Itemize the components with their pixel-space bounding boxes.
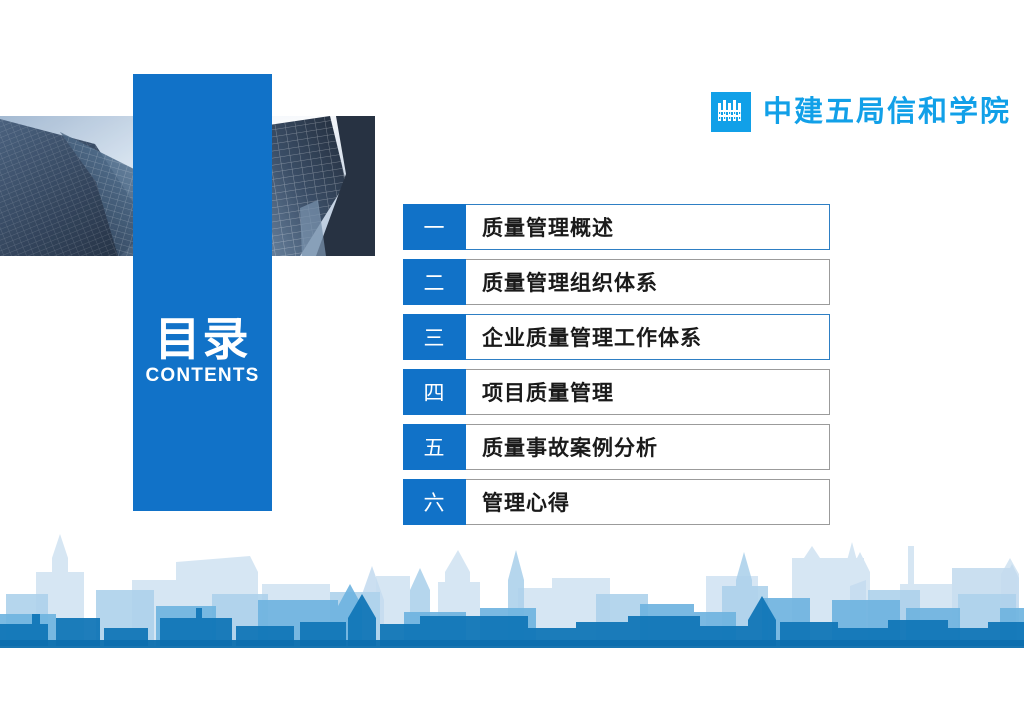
toc-number: 三 xyxy=(403,314,466,360)
toc-row[interactable]: 三 企业质量管理工作体系 xyxy=(403,314,830,360)
slide-canvas: 中建五局信和学院 xyxy=(0,0,1024,724)
toc-label-box[interactable]: 质量管理组织体系 xyxy=(465,259,830,305)
cscec-building-logo-icon xyxy=(711,92,751,132)
toc-row[interactable]: 一 质量管理概述 xyxy=(403,204,830,250)
toc-label: 管理心得 xyxy=(465,487,570,517)
brand-name: 中建五局信和学院 xyxy=(763,98,1011,127)
toc-label: 企业质量管理工作体系 xyxy=(465,322,702,352)
toc-label-box[interactable]: 质量管理概述 xyxy=(465,204,830,250)
toc-label-box[interactable]: 企业质量管理工作体系 xyxy=(465,314,830,360)
toc-label: 质量管理组织体系 xyxy=(465,267,658,297)
toc-label: 项目质量管理 xyxy=(465,377,614,407)
toc-label-box[interactable]: 管理心得 xyxy=(465,479,830,525)
toc-list: 一 质量管理概述 二 质量管理组织体系 三 企业质量管理工作体系 四 项目质量管… xyxy=(403,204,830,525)
contents-title-en: CONTENTS xyxy=(133,366,272,385)
toc-row[interactable]: 六 管理心得 xyxy=(403,479,830,525)
city-skyline-silhouette xyxy=(0,528,1024,648)
toc-number: 五 xyxy=(403,424,466,470)
toc-number: 六 xyxy=(403,479,466,525)
contents-title-cn: 目录 xyxy=(133,316,272,362)
brand-header: 中建五局信和学院 xyxy=(711,92,1011,132)
toc-number: 四 xyxy=(403,369,466,415)
toc-label: 质量管理概述 xyxy=(465,212,614,242)
toc-row[interactable]: 二 质量管理组织体系 xyxy=(403,259,830,305)
toc-number: 一 xyxy=(403,204,466,250)
toc-number: 二 xyxy=(403,259,466,305)
toc-label-box[interactable]: 质量事故案例分析 xyxy=(465,424,830,470)
contents-title-group: 目录 CONTENTS xyxy=(133,316,272,385)
toc-label: 质量事故案例分析 xyxy=(465,432,658,462)
toc-row[interactable]: 四 项目质量管理 xyxy=(403,369,830,415)
toc-label-box[interactable]: 项目质量管理 xyxy=(465,369,830,415)
toc-row[interactable]: 五 质量事故案例分析 xyxy=(403,424,830,470)
contents-panel xyxy=(133,74,272,511)
